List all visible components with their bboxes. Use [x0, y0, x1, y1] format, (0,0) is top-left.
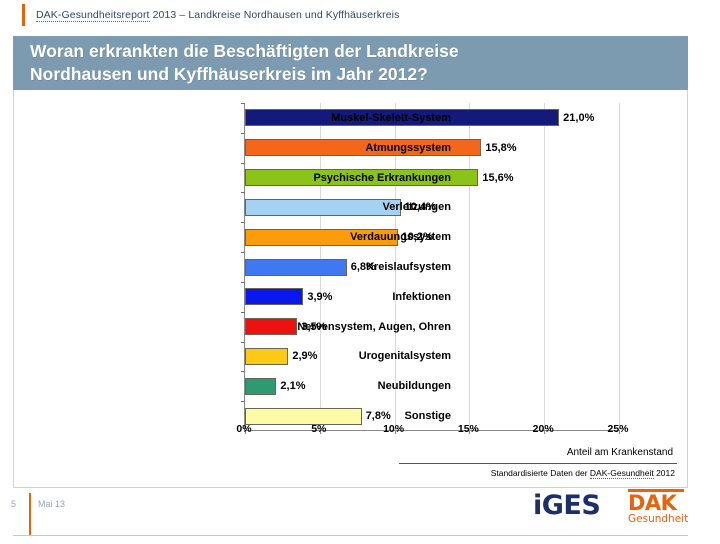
chart-category-label: Verletzungen	[383, 199, 451, 216]
slide: DAK-Gesundheitsreport 2013 – Landkreise …	[0, 0, 720, 544]
chart-bar[interactable]	[245, 318, 297, 335]
x-axis-tick-label: 0%	[236, 423, 251, 435]
x-axis-tick-label: 10%	[383, 423, 404, 435]
chart-category-label: Infektionen	[392, 288, 451, 305]
slide-header: DAK-Gesundheitsreport 2013 – Landkreise …	[0, 0, 720, 30]
dak-logo: DAK Gesundheit	[628, 489, 688, 526]
slide-footer: 5 Mai 13	[0, 488, 720, 544]
chart-bar-value-label: 2,1%	[280, 380, 305, 392]
chart-category-label: Muskel-Skelett-System	[331, 109, 451, 126]
source-note: Standardisierte Daten der DAK-Gesundheit…	[491, 468, 675, 478]
source-divider	[399, 463, 677, 464]
y-axis-tick	[241, 282, 245, 283]
y-axis-tick	[241, 252, 245, 253]
chart-category-label: Kreislaufsystem	[366, 259, 451, 276]
bar-chart: 21,0%15,8%15,6%10,4%10,2%6,8%3,9%3,5%2,9…	[14, 91, 687, 487]
chart-category-label: Urogenitalsystem	[359, 348, 451, 365]
y-axis-tick	[241, 342, 245, 343]
chart-bar[interactable]	[245, 259, 347, 276]
header-brand: DAK-Gesundheitsreport	[36, 9, 150, 22]
dak-logo-sub: Gesundheit	[628, 514, 688, 526]
chart-category-label: Psychische Erkrankungen	[313, 169, 451, 186]
page-title: Woran erkrankten die Beschäftigten der L…	[13, 40, 459, 87]
header-accent-bar	[22, 4, 25, 26]
chart-category-label: Atmungssystem	[365, 139, 451, 156]
chart-bar[interactable]	[245, 408, 362, 425]
chart-category-label: Nervensystem, Augen, Ohren	[297, 318, 451, 335]
chart-category-label: Sonstige	[405, 408, 451, 425]
y-axis-tick	[241, 133, 245, 134]
chart-bar[interactable]	[245, 348, 288, 365]
chart-category-label: Verdauungssystem	[350, 229, 451, 246]
header-rest: 2013 – Landkreise Nordhausen und Kyffhäu…	[150, 9, 400, 21]
footer-date: Mai 13	[38, 499, 65, 509]
footer-accent-bar	[29, 493, 31, 535]
x-axis-tick-label: 25%	[607, 423, 628, 435]
y-axis-tick	[241, 312, 245, 313]
x-axis-title: Anteil am Krankenstand	[567, 447, 673, 458]
y-axis-tick	[241, 103, 245, 104]
y-axis-tick	[241, 371, 245, 372]
header-text: DAK-Gesundheitsreport 2013 – Landkreise …	[36, 9, 399, 21]
chart-bar[interactable]	[245, 199, 401, 216]
chart-bar-value-label: 3,9%	[307, 291, 332, 303]
chart-category-label: Neubildungen	[378, 378, 451, 395]
page-number: 5	[11, 499, 16, 509]
source-suffix: 2012	[654, 468, 675, 478]
y-axis-tick	[241, 222, 245, 223]
x-axis-tick-label: 5%	[311, 423, 326, 435]
iges-logo-text: iGES	[533, 490, 600, 521]
chart-bar-value-label: 2,9%	[292, 350, 317, 362]
chart-bar-value-label: 15,6%	[482, 172, 513, 184]
dak-logo-main: DAK	[628, 493, 688, 514]
x-axis-tick-label: 20%	[533, 423, 554, 435]
iges-logo: iGES	[533, 490, 600, 521]
gridline	[619, 103, 620, 430]
chart-bar-value-label: 15,8%	[485, 142, 516, 154]
title-banner: Woran erkrankten die Beschäftigten der L…	[13, 36, 688, 90]
source-brand: DAK-Gesundheit	[590, 468, 654, 479]
chart-bar-value-label: 21,0%	[563, 112, 594, 124]
x-axis-tick-label: 15%	[458, 423, 479, 435]
source-prefix: Standardisierte Daten der	[491, 468, 590, 478]
y-axis-tick	[241, 163, 245, 164]
footer-divider	[13, 535, 688, 536]
chart-bar[interactable]	[245, 378, 276, 395]
chart-bar-value-label: 7,8%	[366, 410, 391, 422]
y-axis-tick	[241, 401, 245, 402]
chart-bar[interactable]	[245, 288, 303, 305]
y-axis-tick	[241, 192, 245, 193]
